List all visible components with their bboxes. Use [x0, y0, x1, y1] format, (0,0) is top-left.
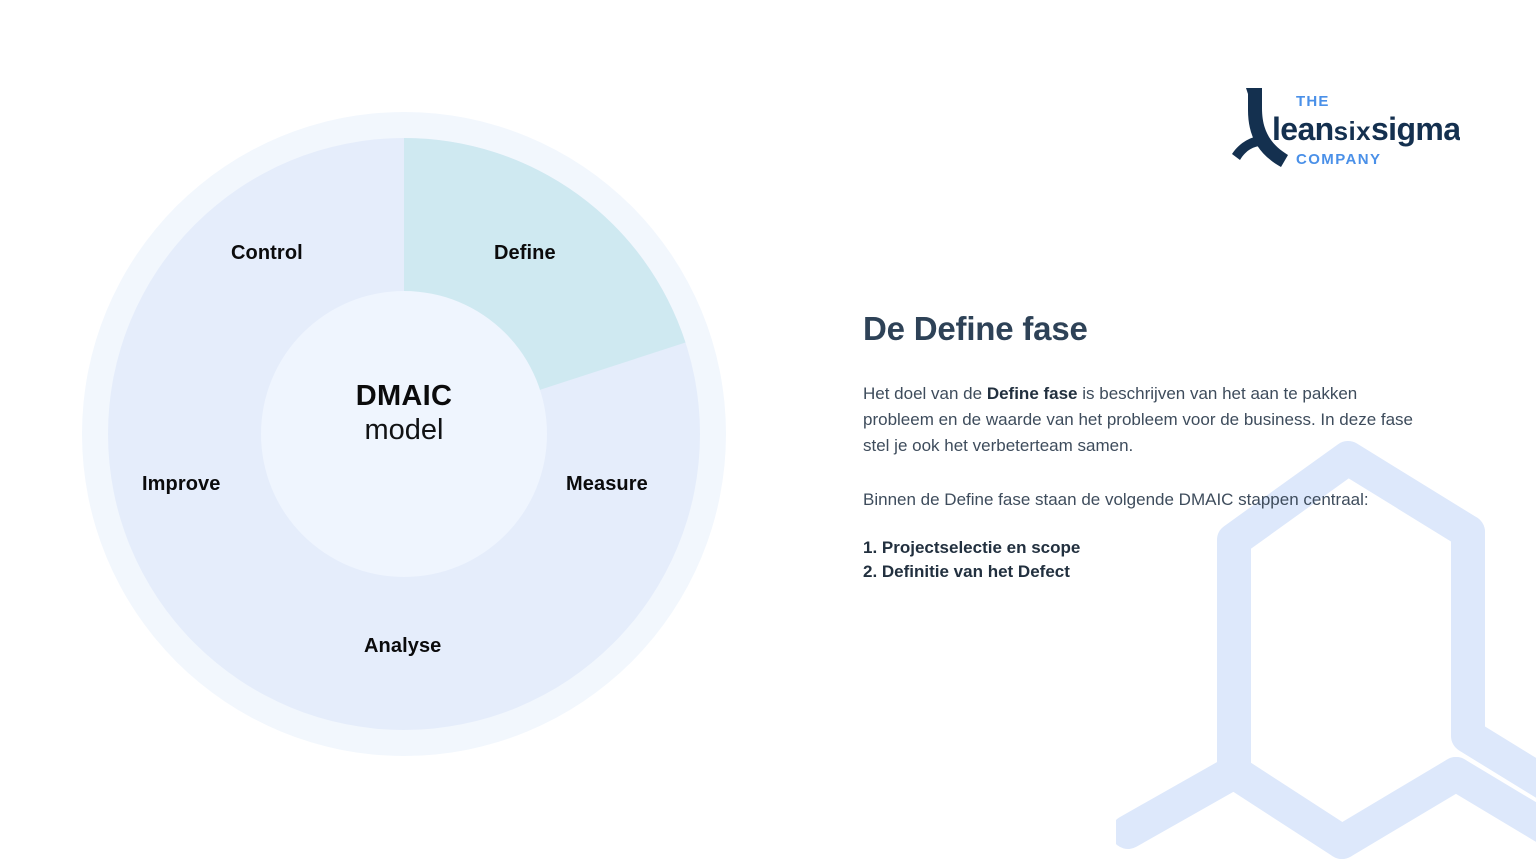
donut-center-title: DMAIC: [254, 380, 554, 412]
lean-six-sigma-logo: THE leansixsigma COMPANY: [1228, 78, 1460, 178]
slide-canvas: THE leansixsigma COMPANY Define Control …: [0, 0, 1536, 864]
donut-label-improve: Improve: [142, 473, 221, 496]
donut-label-control: Control: [231, 242, 303, 265]
page-title: De Define fase: [863, 310, 1423, 349]
donut-label-measure: Measure: [566, 473, 648, 496]
lead-text-before: Het doel van de: [863, 384, 987, 403]
donut-center-subtitle: model: [254, 414, 554, 446]
logo-the-text: THE: [1296, 93, 1330, 110]
intro-paragraph: Binnen de Define fase staan de volgende …: [863, 487, 1423, 513]
dmaic-donut-chart: Define Control Measure Improve Analyse D…: [78, 108, 730, 760]
donut-label-analyse: Analyse: [364, 635, 441, 658]
logo-company-text: COMPANY: [1296, 151, 1381, 168]
content-panel: De Define fase Het doel van de Define fa…: [863, 310, 1423, 584]
list-item: 2. Definitie van het Defect: [863, 560, 1423, 584]
lead-text-bold: Define fase: [987, 384, 1078, 403]
lead-paragraph: Het doel van de Define fase is beschrijv…: [863, 381, 1423, 460]
donut-label-define: Define: [494, 242, 556, 265]
logo-wordmark: leansixsigma: [1272, 111, 1460, 147]
dmaic-steps-list: 1. Projectselectie en scope 2. Definitie…: [863, 536, 1423, 584]
list-item: 1. Projectselectie en scope: [863, 536, 1423, 560]
donut-center-text: DMAIC model: [254, 380, 554, 447]
